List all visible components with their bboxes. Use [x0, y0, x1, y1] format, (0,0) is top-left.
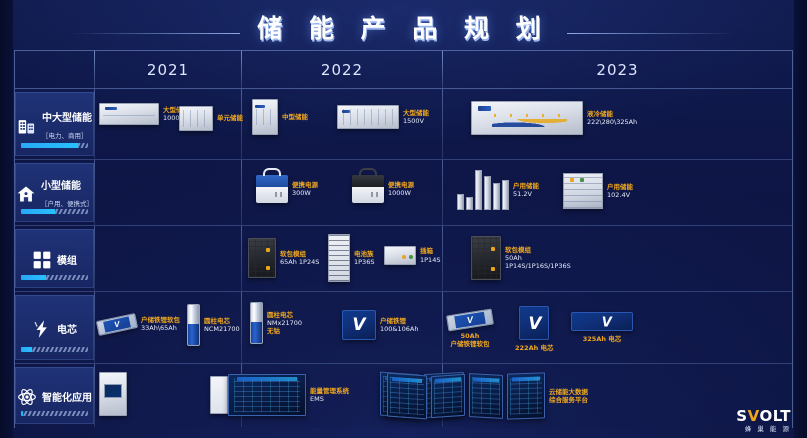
- right-edge-band: [794, 0, 807, 438]
- header-year-2023: 2023: [443, 51, 792, 88]
- module-grid-icon: [32, 250, 52, 270]
- table-row: 中大型储能 ［电力、商用］ 大型储能 1000V: [15, 89, 792, 159]
- cell-2022-small-storage: 便携电源 300W 便携电源 1000W: [242, 160, 442, 225]
- product-item[interactable]: 圆柱电芯 NCM21700: [187, 304, 240, 346]
- ems-dashboard-screen-art: [228, 374, 306, 416]
- cell-2022-cell: 圆柱电芯 NMx21700 无钴 V 户储铁锂 100&106Ah: [242, 292, 442, 363]
- product-caption: 液冷储能 222\280\325Ah: [587, 110, 637, 126]
- unit-cabinet-art: [179, 106, 213, 131]
- svolt-logo: SVOLT 蜂 巢 能 源: [736, 409, 791, 433]
- cloud-screen-art: [507, 372, 545, 419]
- product-caption: 圆柱电芯 NMx21700 无钴: [267, 311, 302, 335]
- product-item[interactable]: 便携电源 300W: [256, 175, 318, 203]
- cylindrical-cell-art: [187, 304, 200, 346]
- row-label-text: 小型储能: [41, 181, 81, 192]
- cell-325ah-art: V: [571, 312, 633, 331]
- cell-2021-small-storage: [95, 160, 241, 225]
- cloud-map-screen-art: [387, 373, 427, 420]
- ems-cabinet-art: [99, 372, 127, 416]
- header-label-col: [15, 51, 94, 88]
- medium-cabinet-art: [252, 99, 278, 135]
- row-label-module[interactable]: 模组: [15, 229, 94, 288]
- product-item[interactable]: 户用储能 102.4V: [563, 173, 633, 209]
- pouch-module-50ah-art: [471, 236, 501, 280]
- product-item[interactable]: V 222Ah 电芯: [515, 306, 554, 352]
- product-caption: 圆柱电芯 NCM21700: [204, 317, 240, 333]
- prismatic-cell-art: V: [342, 310, 376, 340]
- product-item[interactable]: V 户储铁锂软包 33Ah\65Ah: [97, 316, 180, 332]
- logo-mark: SVOLT: [736, 409, 791, 424]
- row-sublabel-text: ［电力、商用］: [42, 132, 88, 140]
- cloud-screen-art: [469, 373, 503, 419]
- portable-power-300w-art: [256, 175, 288, 203]
- product-caption: 电池族 1P36S: [354, 250, 374, 266]
- row-label-smart-application[interactable]: 智能化应用: [15, 367, 94, 424]
- row-sublabel-text: ［户用、便携式］: [41, 200, 93, 208]
- product-item[interactable]: 大型储能 1500V: [337, 105, 429, 129]
- atom-icon: [17, 387, 37, 407]
- table-header-row: 2021 2022 2023: [15, 51, 792, 89]
- product-item[interactable]: 软包模组 50Ah 1P14S/1P16S/1P36S: [471, 236, 571, 280]
- cell-2021-cell: V 户储铁锂软包 33Ah\65Ah 圆柱电芯 NCM21700: [95, 292, 241, 363]
- product-caption: 软包模组 65Ah 1P24S: [280, 250, 319, 266]
- product-item[interactable]: V 325Ah 电芯: [571, 312, 633, 343]
- cell-222ah-art: V: [519, 306, 549, 340]
- cell-2021-module: [95, 226, 241, 291]
- portable-power-1000w-art: [352, 175, 384, 203]
- title-bar: 储 能 产 品 规 划: [0, 6, 807, 48]
- cell-2022-large-storage: 中型储能 大型储能 1500V: [242, 89, 442, 159]
- left-edge-band: [0, 0, 13, 438]
- cell-2023-module: 软包模组 50Ah 1P14S/1P16S/1P36S: [443, 226, 792, 291]
- product-item[interactable]: 圆柱电芯 NMx21700 无钴: [250, 302, 302, 344]
- product-item[interactable]: 云储能大数据 综合服务平台: [387, 373, 588, 419]
- building-icon: [17, 116, 37, 136]
- row-label-small-storage[interactable]: 小型储能 ［户用、便携式］: [15, 163, 94, 222]
- home-ess-tower-art: [457, 170, 509, 210]
- product-item[interactable]: 便携电源 1000W: [352, 175, 414, 203]
- row-label-text: 智能化应用: [42, 393, 92, 404]
- product-item[interactable]: 户用储能 51.2V: [457, 170, 539, 210]
- row-progress-bar: [21, 411, 88, 416]
- title-rule-right: [567, 33, 737, 34]
- table-row: 模组 软包模组 65Ah 1P24S: [15, 225, 792, 291]
- row-label-text: 电芯: [57, 325, 77, 336]
- row-label-text: 中大型储能: [42, 113, 92, 124]
- product-caption: 能量管理系统 EMS: [310, 387, 349, 403]
- row-progress-bar: [21, 347, 88, 352]
- page-title: 储 能 产 品 规 划: [257, 9, 550, 45]
- cell-2023-large-storage: 液冷储能 222\280\325Ah: [443, 89, 792, 159]
- cell-2023-small-storage: 户用储能 51.2V 户用储能 102.4V: [443, 160, 792, 225]
- product-item[interactable]: 软包模组 65Ah 1P24S: [248, 238, 319, 278]
- product-item[interactable]: 大型储能 1000V: [99, 103, 189, 125]
- battery-pack-art: [328, 234, 350, 282]
- product-caption: 户储铁锂 100&106Ah: [380, 317, 418, 333]
- product-caption: 便携电源 300W: [292, 181, 318, 197]
- header-year-2021: 2021: [95, 51, 241, 88]
- cell-2021-large-storage: 大型储能 1000V 单元储能: [95, 89, 241, 159]
- ems-panel-art: [210, 376, 228, 414]
- product-caption: 325Ah 电芯: [571, 335, 633, 343]
- product-caption: 222Ah 电芯: [515, 344, 554, 352]
- roadmap-table: 2021 2022 2023: [14, 50, 793, 428]
- liquid-cooled-ess-art: [471, 101, 583, 135]
- row-progress-bar: [21, 209, 88, 214]
- row-progress-bar: [21, 275, 88, 280]
- plug-in-box-art: [384, 246, 416, 265]
- pouch-module-art: [248, 238, 276, 278]
- table-row: 电芯 V 户储铁锂软包 33Ah\65Ah: [15, 291, 792, 363]
- product-item[interactable]: 液冷储能 222\280\325Ah: [471, 101, 637, 135]
- cell-2022-module: 软包模组 65Ah 1P24S 电池族 1P36S: [242, 226, 442, 291]
- container-ess-art: [99, 103, 159, 125]
- product-caption: 单元储能: [217, 114, 243, 122]
- product-item[interactable]: [99, 372, 127, 416]
- product-item[interactable]: 单元储能: [179, 106, 243, 131]
- row-label-large-storage[interactable]: 中大型储能 ［电力、商用］: [15, 92, 94, 156]
- product-caption: 大型储能 1500V: [403, 109, 429, 125]
- product-item[interactable]: V 户储铁锂 100&106Ah: [342, 310, 418, 340]
- home-icon: [16, 184, 36, 204]
- lightning-icon: [32, 319, 52, 339]
- table-row: 小型储能 ［户用、便携式］ 便携电源: [15, 159, 792, 225]
- product-caption: 便携电源 1000W: [388, 181, 414, 197]
- pouch-cell-art: V: [96, 313, 138, 336]
- home-ess-stack-art: [563, 173, 603, 209]
- product-caption: 软包模组 50Ah 1P14S/1P16S/1P36S: [505, 246, 571, 270]
- large-container-art: [337, 105, 399, 129]
- product-caption: 插箱 1P14S: [420, 247, 440, 263]
- product-item[interactable]: 电池族 1P36S: [328, 234, 374, 282]
- product-item[interactable]: 中型储能: [252, 99, 308, 135]
- cloud-screen-art: [431, 374, 465, 418]
- row-progress-bar: [21, 143, 88, 148]
- table-row: 智能化应用 能量管理系统: [15, 363, 792, 427]
- table-body: 中大型储能 ［电力、商用］ 大型储能 1000V: [15, 89, 792, 427]
- product-caption: 户储铁锂软包 33Ah\65Ah: [141, 316, 180, 332]
- product-caption: 50Ah 户储铁锂软包: [447, 332, 493, 348]
- logo-subtext: 蜂 巢 能 源: [736, 426, 791, 433]
- product-item[interactable]: 能量管理系统 EMS: [210, 374, 349, 416]
- header-year-2022: 2022: [242, 51, 442, 88]
- product-caption: 户用储能 51.2V: [513, 182, 539, 198]
- row-label-text: 模组: [57, 256, 77, 267]
- row-label-cell[interactable]: 电芯: [15, 295, 94, 360]
- title-rule-left: [70, 33, 240, 34]
- cell-2023-cell: V 50Ah 户储铁锂软包 V 222Ah 电芯: [443, 292, 792, 363]
- product-caption: 中型储能: [282, 113, 308, 121]
- product-caption: 云储能大数据 综合服务平台: [549, 388, 588, 404]
- pouch-cell-50ah-art: V: [446, 309, 494, 332]
- cylindrical-cell-cobalt-free-art: [250, 302, 263, 344]
- product-item[interactable]: 插箱 1P14S: [384, 246, 440, 265]
- product-caption: 户用储能 102.4V: [607, 183, 633, 199]
- product-item[interactable]: V 50Ah 户储铁锂软包: [447, 312, 493, 348]
